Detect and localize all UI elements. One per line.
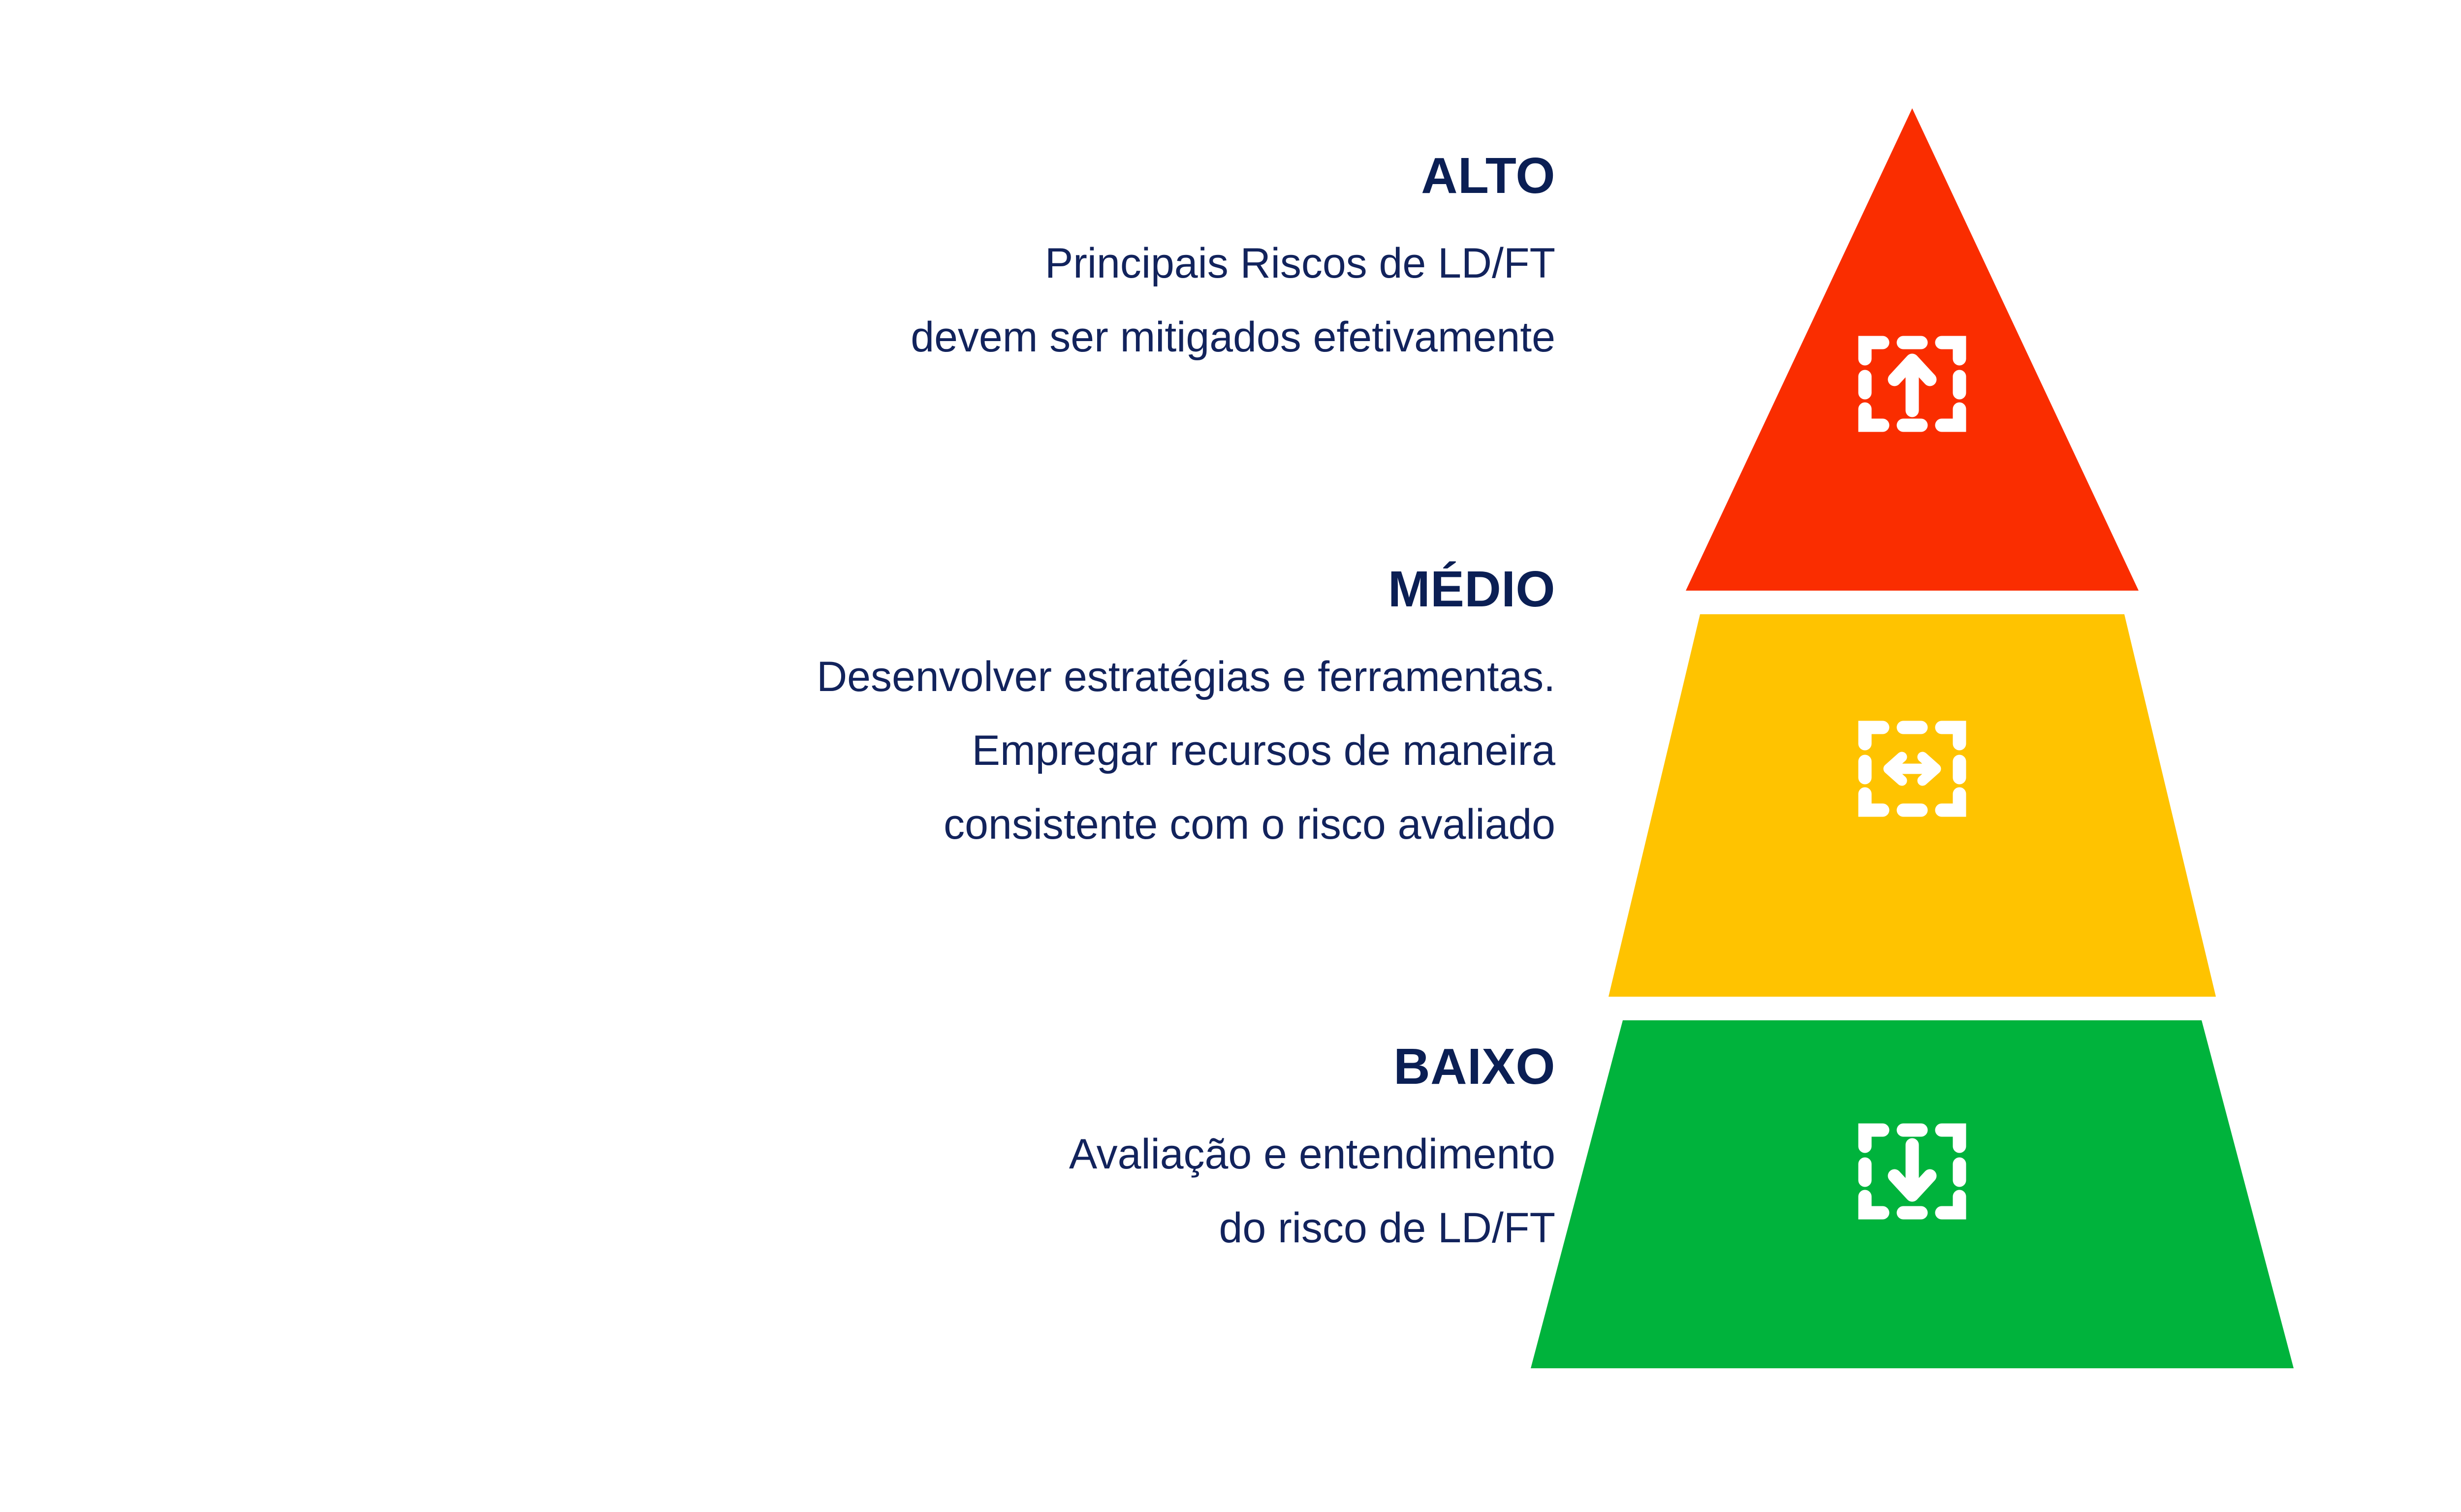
risk-pyramid-diagram: ALTO Principais Riscos de LD/FT devem se… <box>0 0 2461 1512</box>
dashed-box-arrow-up-icon <box>1838 310 1986 458</box>
dashed-box-arrow-down-icon <box>1838 1098 1986 1245</box>
dashed-box-arrow-left-right-icon <box>1838 695 1986 843</box>
pyramid-bands-svg <box>1078 89 2461 1388</box>
pyramid-graphic <box>1078 89 2461 1388</box>
